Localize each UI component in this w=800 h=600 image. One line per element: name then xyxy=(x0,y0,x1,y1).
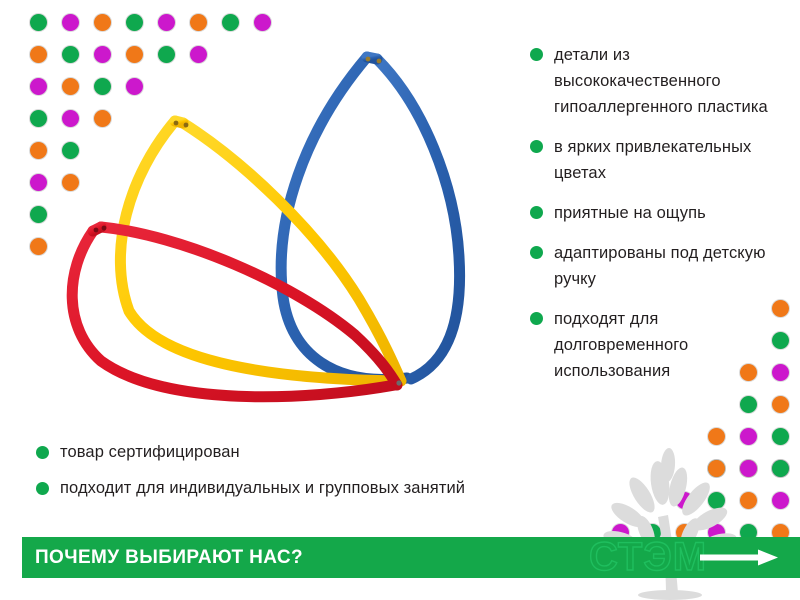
slide-canvas: детали из высококачественного гипоаллерг… xyxy=(0,0,800,600)
top-left-dot xyxy=(30,238,47,255)
top-left-dot xyxy=(222,14,239,31)
right-edge-dot xyxy=(740,428,757,445)
top-left-dot xyxy=(30,14,47,31)
top-left-dot xyxy=(30,110,47,127)
top-left-dot xyxy=(126,14,143,31)
bullet-dot-icon xyxy=(530,140,543,153)
feature-bottom-label: товар сертифицирован xyxy=(60,440,240,464)
feature-right-label: подходят для долговременного использован… xyxy=(554,306,778,384)
feature-right-label: в ярких привлекательных цветах xyxy=(554,134,778,186)
feature-bottom-item: подходит для индивидуальных и групповых … xyxy=(36,476,576,500)
bullet-dot-icon xyxy=(530,48,543,61)
bottom-right-dot xyxy=(676,492,693,509)
logo-text: СТЭМ xyxy=(589,537,707,578)
top-left-dot xyxy=(190,14,207,31)
bullet-dot-icon xyxy=(36,446,49,459)
right-arrow-icon xyxy=(700,549,778,566)
bullet-dot-icon xyxy=(530,246,543,259)
footer-bar: СТЭМ ПОЧЕМУ ВЫБИРАЮТ НАС? xyxy=(22,537,800,578)
top-left-dot xyxy=(30,46,47,63)
bottom-right-dot xyxy=(740,460,757,477)
feature-right-item: детали из высококачественного гипоаллерг… xyxy=(530,42,778,120)
bottom-right-dot xyxy=(708,492,725,509)
blue-hoop xyxy=(281,57,459,380)
right-edge-dot xyxy=(772,396,789,413)
feature-right-label: приятные на ощупь xyxy=(554,200,706,226)
feature-bottom-item: товар сертифицирован xyxy=(36,440,576,464)
bottom-right-dot xyxy=(708,460,725,477)
feature-right-label: адаптированы под детскую ручку xyxy=(554,240,778,292)
feature-bottom-label: подходит для индивидуальных и групповых … xyxy=(60,476,465,500)
bottom-right-dot xyxy=(740,492,757,509)
right-edge-dot xyxy=(772,428,789,445)
bullet-dot-icon xyxy=(530,312,543,325)
feature-right-item: адаптированы под детскую ручку xyxy=(530,240,778,292)
top-left-dot xyxy=(254,14,271,31)
feature-list-bottom: товар сертифицированподходит для индивид… xyxy=(36,440,576,512)
hoops-svg xyxy=(55,35,475,410)
right-edge-dot xyxy=(740,396,757,413)
top-left-dot xyxy=(94,14,111,31)
product-image-hoops xyxy=(55,35,475,410)
top-left-dot xyxy=(158,14,175,31)
bottom-right-dot xyxy=(772,460,789,477)
top-left-dot xyxy=(62,14,79,31)
top-left-dot xyxy=(30,206,47,223)
feature-list-right: детали из высококачественного гипоаллерг… xyxy=(530,42,778,398)
footer-title: ПОЧЕМУ ВЫБИРАЮТ НАС? xyxy=(35,547,303,569)
feature-right-item: в ярких привлекательных цветах xyxy=(530,134,778,186)
right-edge-dot xyxy=(708,428,725,445)
hoop-pin xyxy=(396,380,401,385)
bottom-right-dot xyxy=(772,492,789,509)
top-left-dot xyxy=(30,142,47,159)
top-left-dot xyxy=(30,174,47,191)
feature-right-label: детали из высококачественного гипоаллерг… xyxy=(554,42,778,120)
bullet-dot-icon xyxy=(530,206,543,219)
bullet-dot-icon xyxy=(36,482,49,495)
feature-right-item: подходят для долговременного использован… xyxy=(530,306,778,384)
feature-right-item: приятные на ощупь xyxy=(530,200,778,226)
top-left-dot xyxy=(30,78,47,95)
